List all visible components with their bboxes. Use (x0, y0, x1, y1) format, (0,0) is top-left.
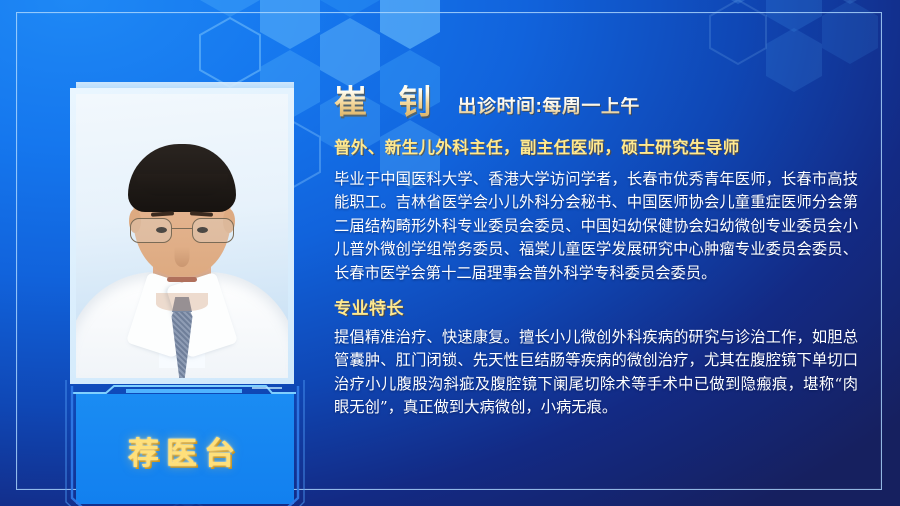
doctor-position: 普外、新生儿外科主任，副主任医师，硕士研究生导师 (334, 134, 858, 158)
badge-label: 荐医台 (76, 428, 294, 473)
lens-right (192, 218, 234, 243)
clinic-schedule: 出诊时间:每周一上午 (458, 97, 640, 120)
doctor-profile-card: 荐医台 崔 钊 出诊时间:每周一上午 普外、新生儿外科主任，副主任医师，硕士研究… (0, 0, 900, 506)
nose (175, 247, 190, 267)
chin (156, 293, 208, 311)
glasses-bridge (172, 228, 192, 230)
specialty-heading: 专业特长 (334, 294, 858, 319)
hair (128, 144, 236, 212)
doctor-name: 崔 钊 (334, 85, 442, 120)
portrait-frame (70, 88, 294, 384)
mouth (167, 277, 197, 282)
eyeglasses-icon (130, 218, 234, 244)
doctor-info-panel: 崔 钊 出诊时间:每周一上午 普外、新生儿外科主任，副主任医师，硕士研究生导师 … (334, 74, 858, 420)
badge-panel: 荐医台 (76, 394, 294, 504)
doctor-portrait-image (76, 94, 288, 378)
doctor-specialty: 提倡精准治疗、快速康复。擅长小儿微创外科疾病的研究与诊治工作，如胆总管囊肿、肛门… (334, 326, 858, 420)
doctor-biography: 毕业于中国医科大学、香港大学访问学者，长春市优秀青年医师，长春市高技能职工。吉林… (334, 168, 858, 285)
portrait-card: 荐医台 (66, 82, 302, 452)
lens-left (130, 218, 172, 243)
name-and-schedule-row: 崔 钊 出诊时间:每周一上午 (334, 74, 858, 120)
